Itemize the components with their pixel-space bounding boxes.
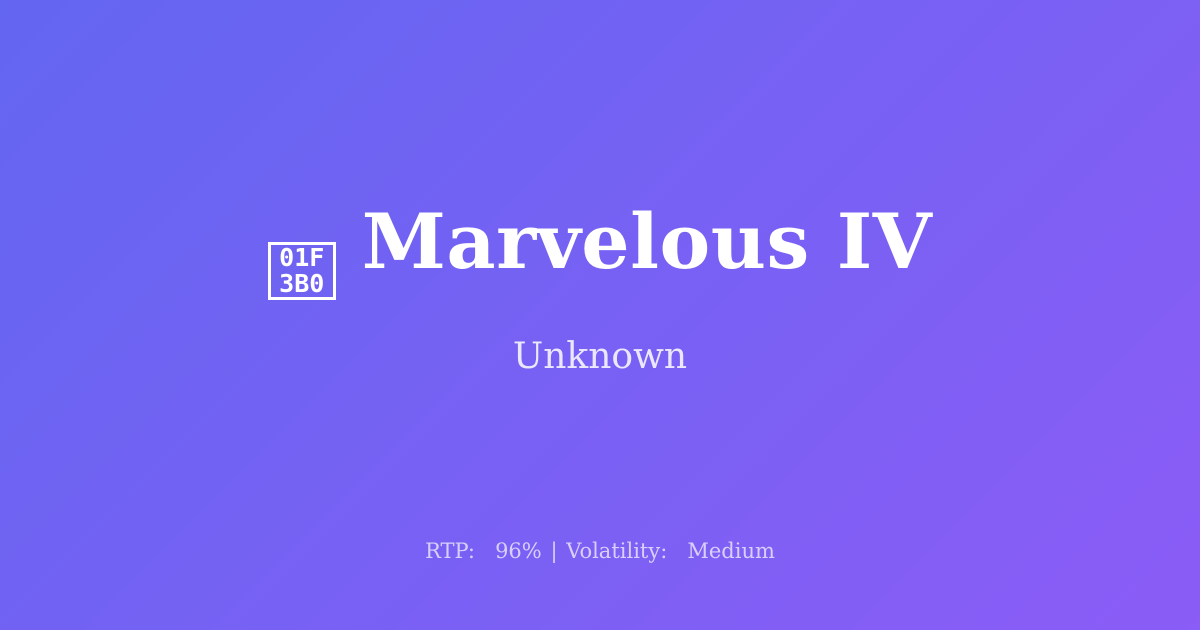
meta-separator: | bbox=[548, 539, 559, 563]
title-row: 01F 3B0 Marvelous IV bbox=[268, 201, 933, 302]
volatility-value: Medium bbox=[687, 539, 775, 563]
game-og-card: 01F 3B0 Marvelous IV Unknown RTP: 96% | … bbox=[0, 0, 1200, 630]
rtp-label: RTP: bbox=[425, 539, 475, 563]
rtp-value: 96% bbox=[495, 539, 542, 563]
game-subtitle: Unknown bbox=[513, 336, 687, 378]
volatility-label: Volatility: bbox=[566, 539, 667, 563]
hero-block: 01F 3B0 Marvelous IV Unknown bbox=[268, 201, 933, 378]
game-title: Marvelous IV bbox=[362, 201, 933, 283]
tofu-codepoint-line-2: 3B0 bbox=[279, 271, 324, 297]
slot-machine-emoji-icon: 01F 3B0 bbox=[268, 242, 336, 300]
game-meta-footer: RTP: 96% | Volatility: Medium bbox=[0, 538, 1200, 564]
tofu-codepoint-line-1: 01F bbox=[279, 245, 324, 271]
